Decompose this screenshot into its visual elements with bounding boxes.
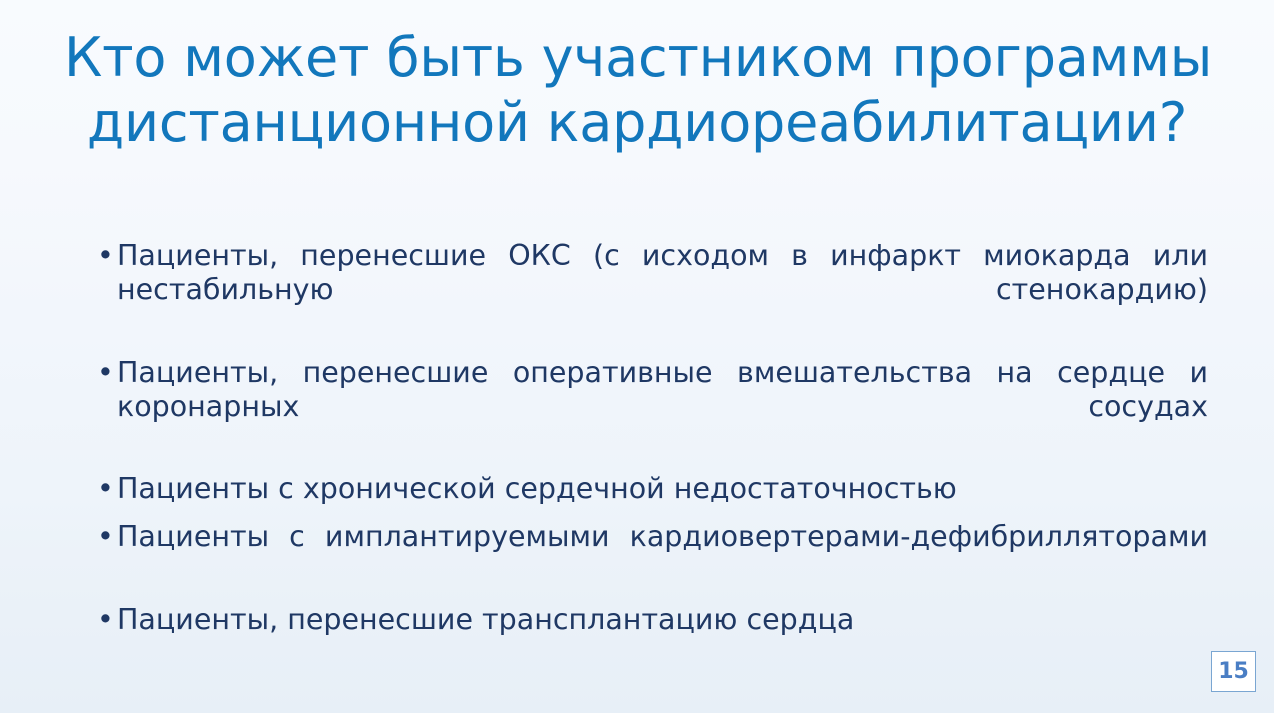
slide-title: Кто может быть участником программы дист…: [64, 26, 1210, 156]
presentation-slide: Кто может быть участником программы дист…: [0, 0, 1274, 713]
bullet-dot-icon: •: [97, 239, 114, 273]
slide-title-line-2: дистанционной кардиореабилитации?: [64, 91, 1210, 156]
bullet-dot-icon: •: [97, 356, 114, 390]
bullet-item: • Пациенты с хронической сердечной недос…: [95, 472, 1208, 506]
bullet-item-text: Пациенты, перенесшие трансплантацию серд…: [117, 603, 1208, 637]
bullet-item-text: Пациенты, перенесшие ОКС (с исходом в ин…: [117, 239, 1208, 342]
bullet-dot-icon: •: [97, 520, 114, 554]
bullet-list: • Пациенты, перенесшие ОКС (с исходом в …: [95, 239, 1208, 637]
bullet-item-text: Пациенты с хронической сердечной недоста…: [117, 472, 1208, 506]
bullet-item: • Пациенты, перенесшие трансплантацию се…: [95, 603, 1208, 637]
slide-number-text: 15: [1218, 661, 1249, 683]
bullet-item: • Пациенты с имплантируемыми кардиоверте…: [95, 520, 1208, 588]
bullet-item: • Пациенты, перенесшие оперативные вмеша…: [95, 356, 1208, 459]
slide-title-line-1: Кто может быть участником программы: [64, 26, 1210, 91]
bullet-item-text: Пациенты, перенесшие оперативные вмешате…: [117, 356, 1208, 459]
bullet-item-text: Пациенты с имплантируемыми кардиовертера…: [117, 520, 1208, 588]
bullet-item: • Пациенты, перенесшие ОКС (с исходом в …: [95, 239, 1208, 342]
slide-number-badge: 15: [1211, 651, 1256, 692]
bullet-dot-icon: •: [97, 472, 114, 506]
bullet-dot-icon: •: [97, 603, 114, 637]
